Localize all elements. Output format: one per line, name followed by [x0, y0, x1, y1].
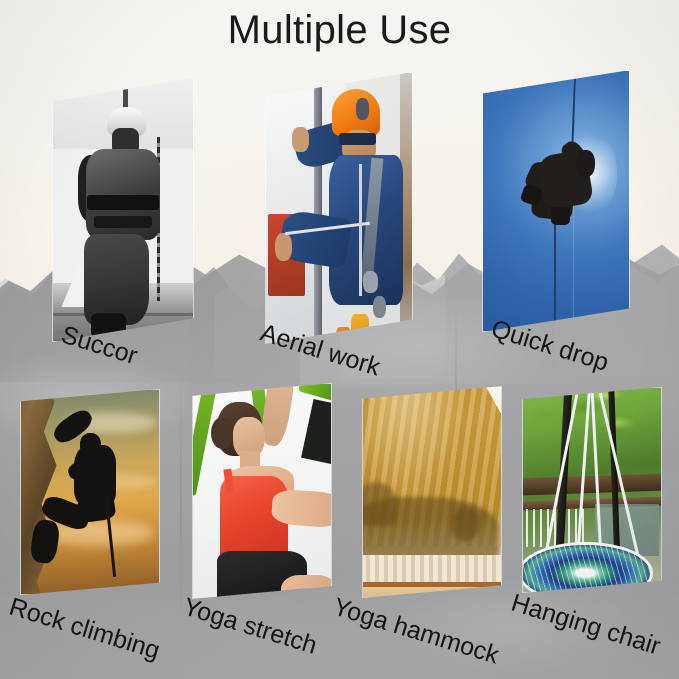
panel-succor-image	[52, 78, 194, 342]
panel-aerial-work	[265, 72, 413, 344]
panel-quick-drop	[482, 70, 630, 332]
page-title: Multiple Use	[0, 8, 679, 53]
infographic-root: Multiple Use Succor	[0, 0, 679, 679]
panel-rock-climbing	[20, 389, 160, 595]
panel-quick-drop-image	[482, 70, 630, 332]
panel-aerial-work-image	[265, 72, 413, 344]
panel-succor	[52, 78, 194, 342]
panel-hanging-chair	[522, 387, 662, 593]
panel-rock-climbing-image	[20, 389, 160, 595]
panel-yoga-stretch	[192, 383, 332, 599]
rock-seam-left	[180, 370, 182, 630]
panel-yoga-hammock	[362, 386, 502, 598]
panel-yoga-hammock-image	[362, 386, 502, 598]
panel-hanging-chair-image	[522, 387, 662, 593]
panel-yoga-stretch-image	[192, 383, 332, 599]
